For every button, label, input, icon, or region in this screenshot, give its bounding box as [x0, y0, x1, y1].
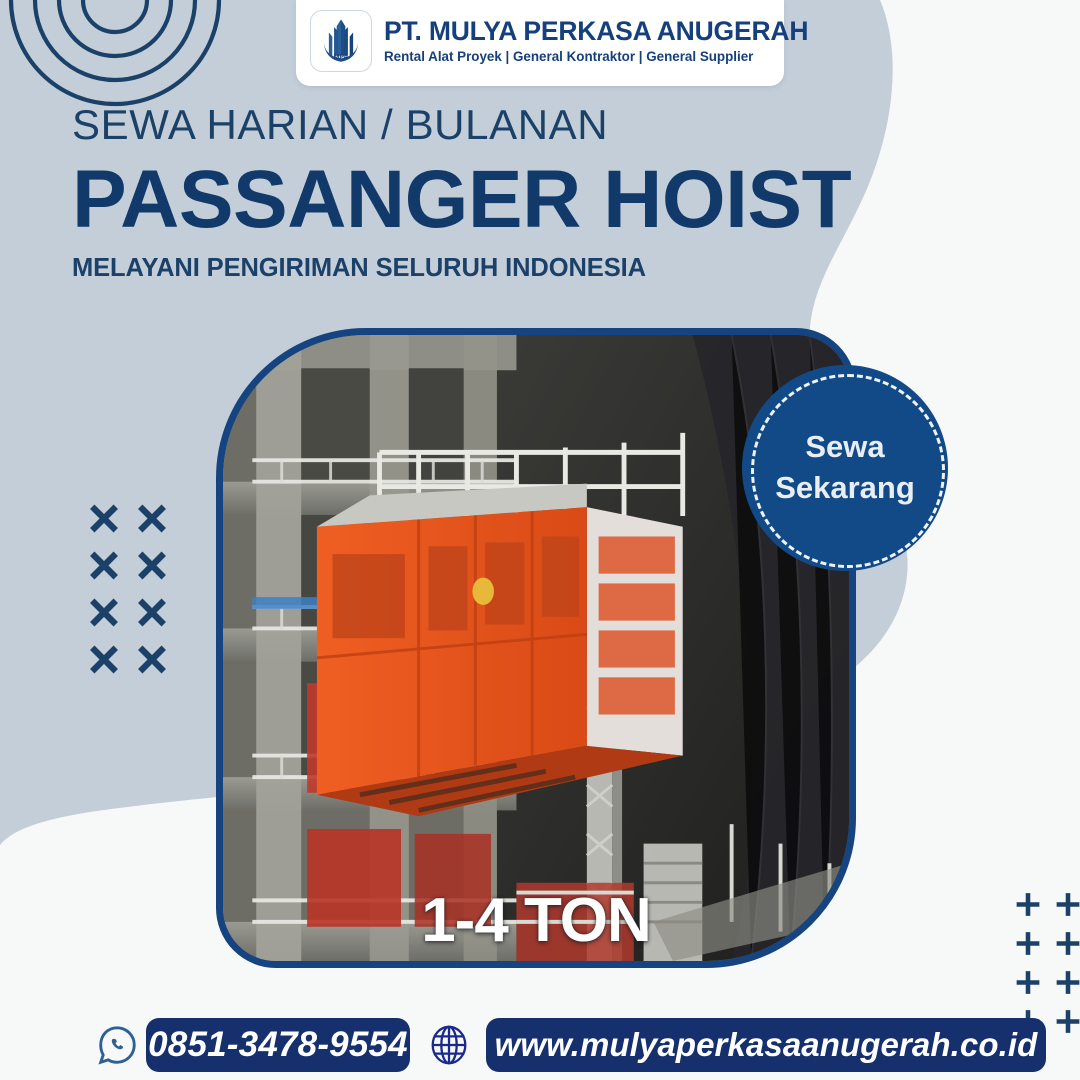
badge-line-1: Sewa — [805, 427, 884, 468]
headline-kicker: SEWA HARIAN / BULANAN — [72, 104, 972, 146]
promo-poster: MPA PT. MULYA PERKASA ANUGERAH Rental Al… — [0, 0, 1080, 1080]
x-mark-icon — [128, 636, 176, 683]
x-mark-icon — [80, 636, 128, 683]
headline-block: SEWA HARIAN / BULANAN PASSANGER HOIST ME… — [72, 104, 972, 281]
plus-mark-icon — [1048, 1002, 1080, 1041]
x-mark-icon — [128, 589, 176, 636]
phone-number: 0851-3478-9554 — [148, 1025, 408, 1065]
brand-logo-card: MPA PT. MULYA PERKASA ANUGERAH Rental Al… — [296, 0, 784, 86]
whatsapp-icon[interactable] — [94, 1022, 140, 1068]
capacity-label: 1-4 TON — [216, 890, 856, 952]
x-mark-icon — [80, 495, 128, 542]
plus-mark-icon — [1008, 924, 1048, 963]
phone-pill[interactable]: 0851-3478-9554 — [146, 1018, 410, 1072]
badge-line-2: Sekarang — [775, 468, 915, 509]
globe-icon[interactable] — [426, 1021, 472, 1069]
svg-text:MPA: MPA — [334, 54, 349, 61]
plus-mark-icon — [1008, 963, 1048, 1002]
x-mark-icon — [80, 589, 128, 636]
website-url: www.mulyaperkasaanugerah.co.id — [495, 1026, 1038, 1064]
x-mark-icon — [128, 542, 176, 589]
plus-mark-icon — [1048, 885, 1080, 924]
brand-name: PT. MULYA PERKASA ANUGERAH — [384, 18, 808, 46]
plus-mark-icon — [1048, 924, 1080, 963]
brand-tagline: Rental Alat Proyek | General Kontraktor … — [384, 49, 808, 64]
x-mark-decoration — [80, 495, 176, 683]
building-skyscraper-icon: MPA — [310, 10, 372, 72]
cta-badge[interactable]: Sewa Sekarang — [742, 365, 948, 571]
page-title: PASSANGER HOIST — [72, 158, 972, 242]
plus-mark-icon — [1048, 963, 1080, 1002]
x-mark-icon — [128, 495, 176, 542]
x-mark-icon — [80, 542, 128, 589]
headline-subtitle: MELAYANI PENGIRIMAN SELURUH INDONESIA — [72, 256, 972, 282]
plus-mark-icon — [1008, 885, 1048, 924]
website-pill[interactable]: www.mulyaperkasaanugerah.co.id — [486, 1018, 1046, 1072]
